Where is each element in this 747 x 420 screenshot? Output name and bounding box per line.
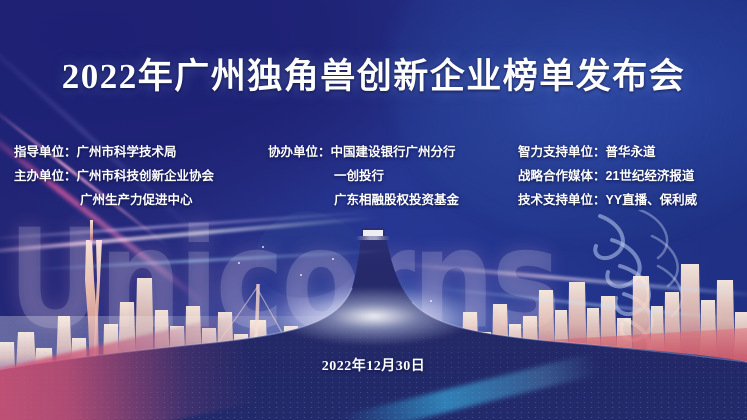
credit-line: 协办单位：中国建设银行广州分行 — [268, 140, 459, 164]
credits-column-support: 智力支持单位：普华永道 战略合作媒体：21世纪经济报道 技术支持单位：YY直播、… — [518, 140, 697, 212]
credit-line: 战略合作媒体：21世纪经济报道 — [518, 164, 697, 188]
credit-line: 广州生产力促进中心 — [14, 188, 214, 212]
credit-line: 一创投行 — [268, 164, 459, 188]
credit-line: 广东相融股权投资基金 — [268, 188, 459, 212]
credit-line: 智力支持单位：普华永道 — [518, 140, 697, 164]
page-title: 2022年广州独角兽创新企业榜单发布会 — [0, 48, 747, 99]
credit-line: 指导单位：广州市科学技术局 — [14, 140, 214, 164]
event-banner: Unicorns — [0, 0, 747, 420]
credits-column-guiding: 指导单位：广州市科学技术局 主办单位：广州市科技创新企业协会 广州生产力促进中心 — [14, 140, 214, 212]
event-date: 2022年12月30日 — [0, 355, 747, 375]
credits-column-coorganizers: 协办单位：中国建设银行广州分行 一创投行 广东相融股权投资基金 — [268, 140, 459, 212]
credits-block: 指导单位：广州市科学技术局 主办单位：广州市科技创新企业协会 广州生产力促进中心… — [0, 140, 747, 210]
credit-line: 技术支持单位：YY直播、保利威 — [518, 188, 697, 212]
credit-line: 主办单位：广州市科技创新企业协会 — [14, 164, 214, 188]
